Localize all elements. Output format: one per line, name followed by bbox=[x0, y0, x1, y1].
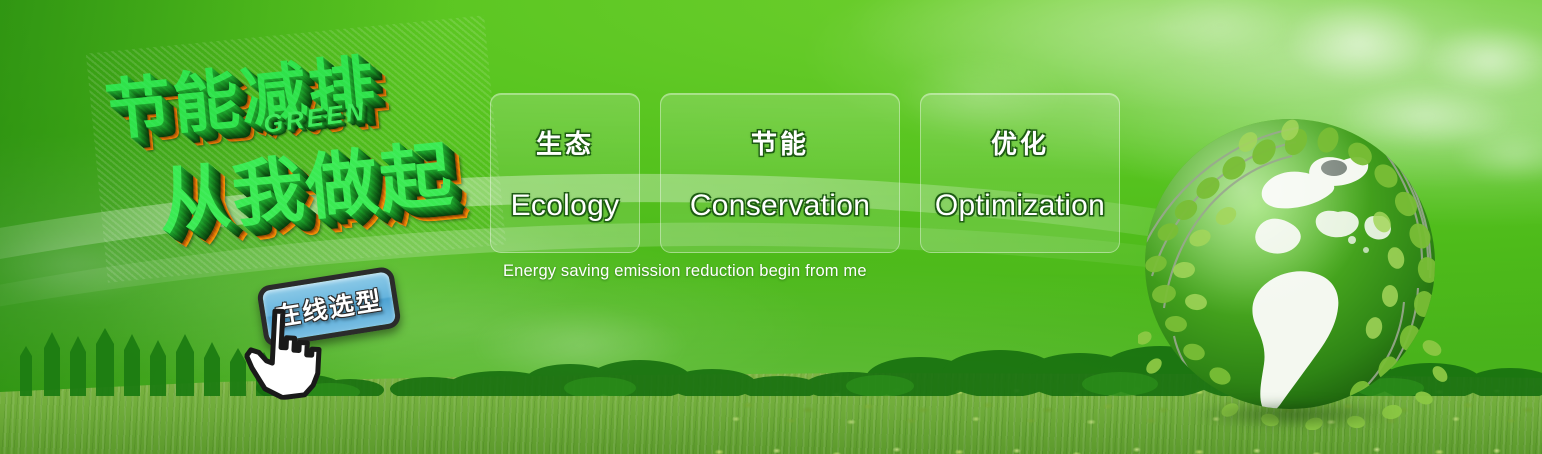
cloud-icon bbox=[1120, 0, 1320, 80]
feature-card-cn-label: 生态 bbox=[536, 124, 594, 161]
headline-3d-block-type: 节能减排 GREEN 从我做起 bbox=[86, 15, 506, 282]
feature-card-en-label: Ecology bbox=[511, 189, 620, 223]
feature-card-cn-label: 节能 bbox=[751, 124, 809, 161]
feature-card-en-label: Conservation bbox=[690, 189, 870, 223]
feature-card-conservation[interactable]: 节能 Conservation bbox=[660, 93, 900, 253]
cloud-icon bbox=[1255, 0, 1465, 102]
feature-card-ecology[interactable]: 生态 Ecology bbox=[490, 93, 640, 253]
pointing-hand-cursor-icon bbox=[242, 306, 325, 402]
leafy-green-globe-icon bbox=[1138, 112, 1448, 430]
feature-card-optimization[interactable]: 优化 Optimization bbox=[920, 93, 1120, 253]
online-selection-cta[interactable]: 在线选型 bbox=[256, 266, 402, 349]
feature-card-en-label: Optimization bbox=[935, 189, 1105, 223]
green-promo-banner: 节能减排 GREEN 从我做起 在线选型 生态 Ecology 节能 Conse… bbox=[0, 0, 1542, 454]
tagline: Energy saving emission reduction begin f… bbox=[503, 262, 867, 281]
globe-graphic bbox=[1138, 112, 1448, 430]
feature-cards: 生态 Ecology 节能 Conservation 优化 Optimizati… bbox=[490, 93, 1120, 253]
globe-shadow bbox=[1148, 394, 1438, 434]
cloud-icon bbox=[1395, 10, 1542, 110]
feature-card-cn-label: 优化 bbox=[991, 124, 1049, 161]
